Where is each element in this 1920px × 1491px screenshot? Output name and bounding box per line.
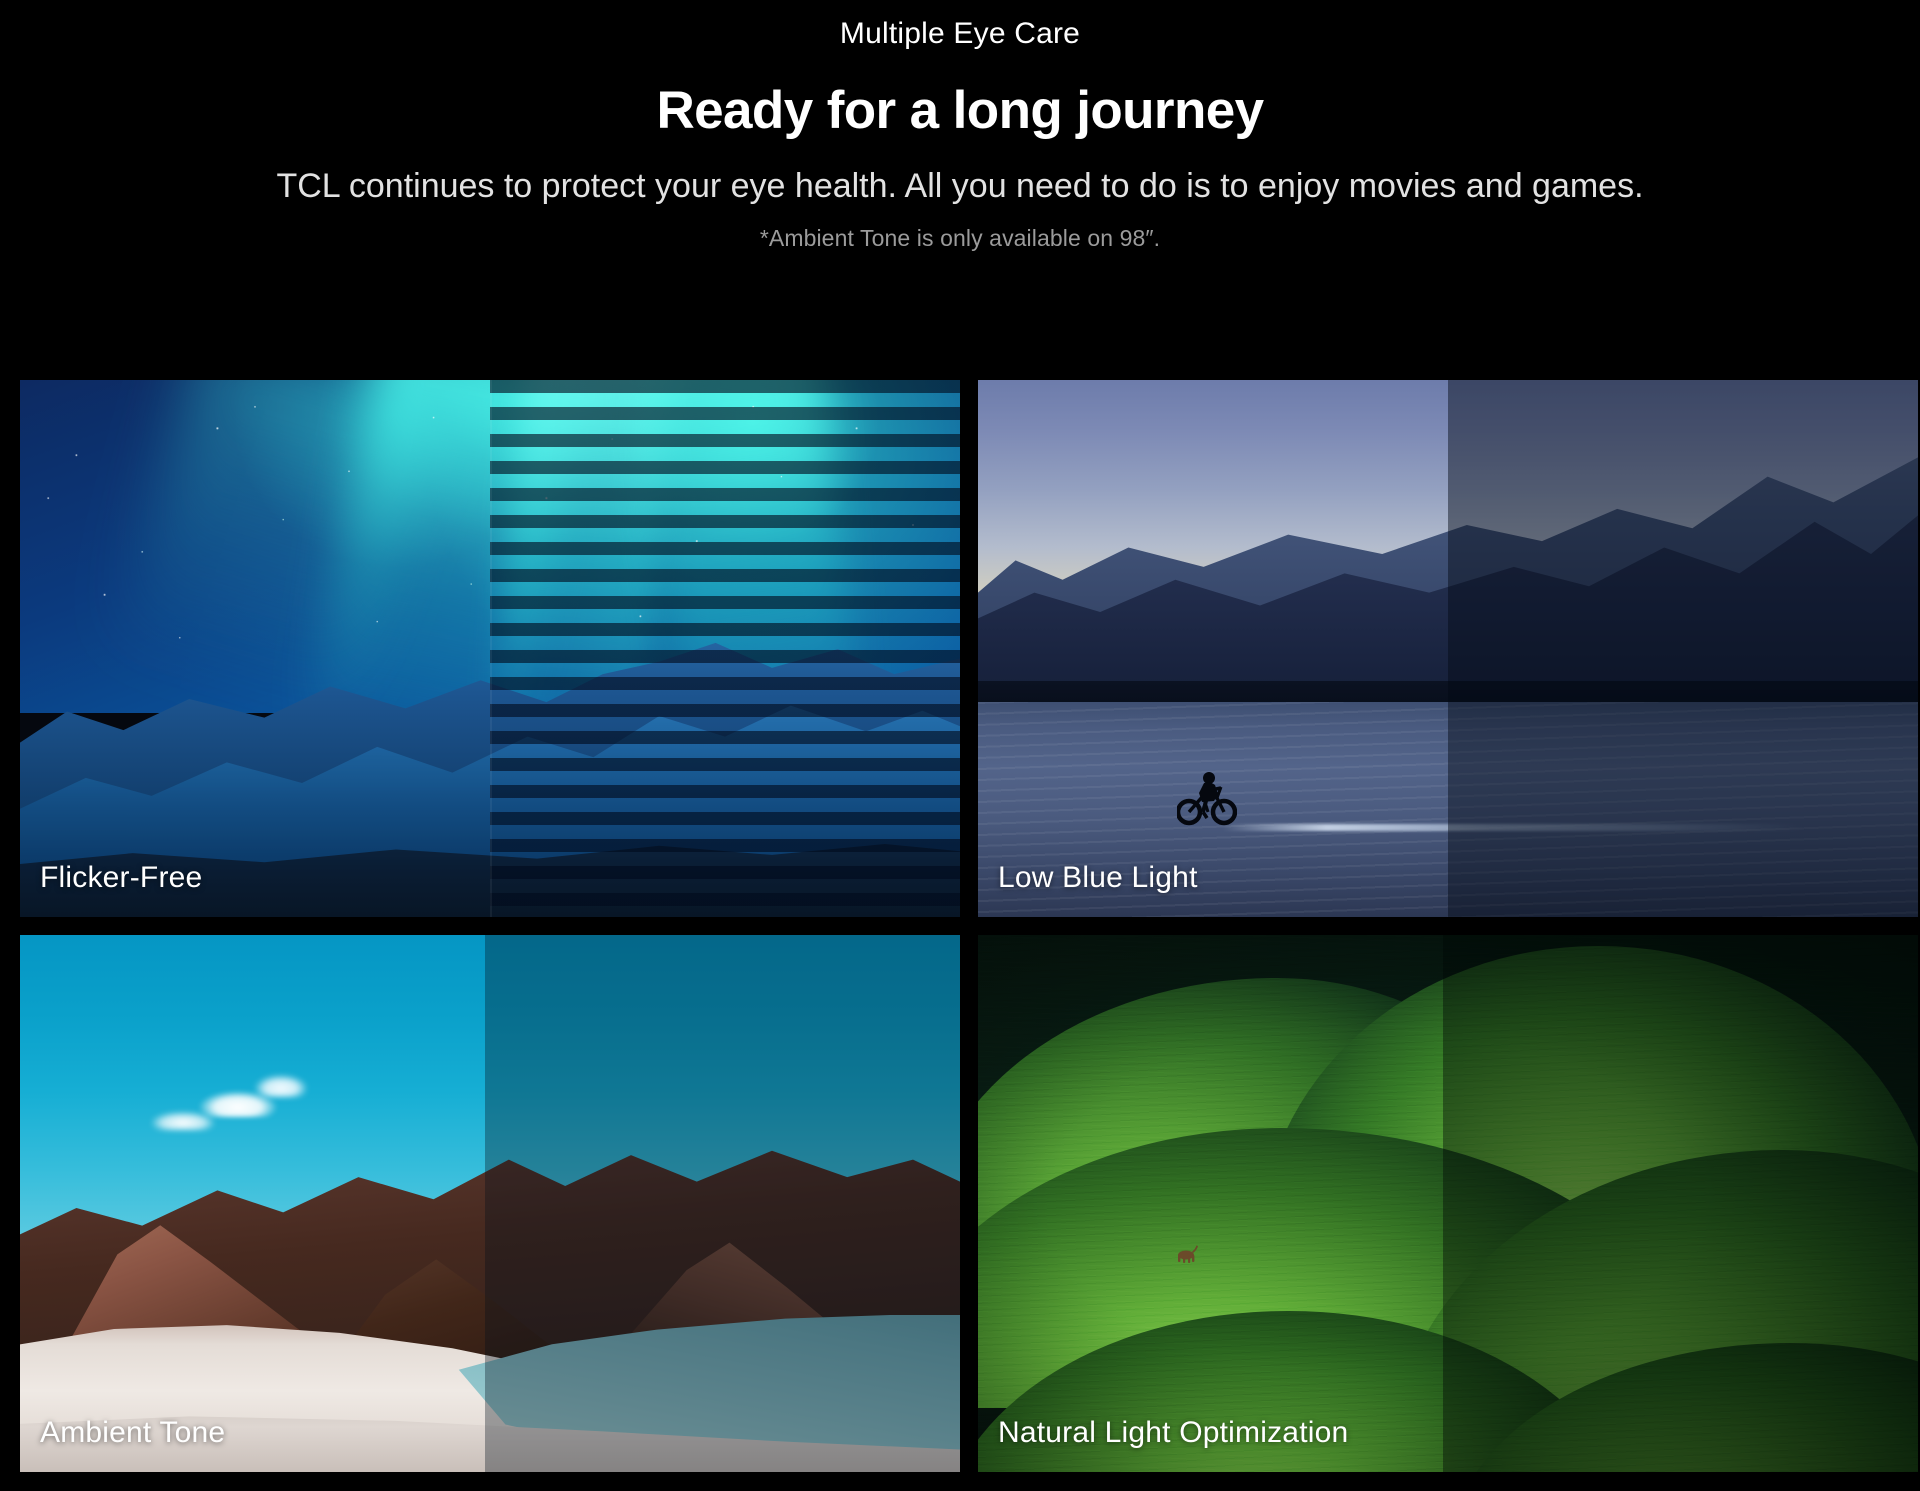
subheading-text: TCL continues to protect your eye health… xyxy=(180,164,1740,209)
ambient-tone-adapted-overlay xyxy=(485,935,960,1472)
card-label-flicker-free: Flicker-Free xyxy=(40,861,202,895)
flicker-banding-overlay xyxy=(490,380,960,917)
page-header: Multiple Eye Care Ready for a long journ… xyxy=(0,0,1920,252)
comparison-split-divider xyxy=(490,380,492,917)
eye-care-feature-page: Multiple Eye Care Ready for a long journ… xyxy=(0,0,1920,1491)
feature-card-low-blue-light[interactable]: Low Blue Light xyxy=(978,380,1918,917)
card-label-natural-light-optimization: Natural Light Optimization xyxy=(998,1416,1348,1450)
feature-card-flicker-free[interactable]: Flicker-Free xyxy=(20,380,960,917)
disclaimer-text: *Ambient Tone is only available on 98″. xyxy=(0,225,1920,252)
feature-card-grid: Flicker-Free xyxy=(20,380,1898,1473)
feature-card-ambient-tone[interactable]: Ambient Tone xyxy=(20,935,960,1472)
page-title: Ready for a long journey xyxy=(0,81,1920,142)
hiker-silhouette-icon xyxy=(1172,1241,1200,1267)
card-label-ambient-tone: Ambient Tone xyxy=(40,1416,225,1450)
natural-light-dimmed-overlay xyxy=(1443,935,1918,1472)
blue-light-reduced-overlay xyxy=(1448,380,1918,917)
card-label-low-blue-light: Low Blue Light xyxy=(998,861,1198,895)
feature-card-natural-light-optimization[interactable]: Natural Light Optimization xyxy=(978,935,1918,1472)
cyclist-silhouette-icon xyxy=(1177,768,1237,826)
eyebrow-text: Multiple Eye Care xyxy=(0,14,1920,53)
